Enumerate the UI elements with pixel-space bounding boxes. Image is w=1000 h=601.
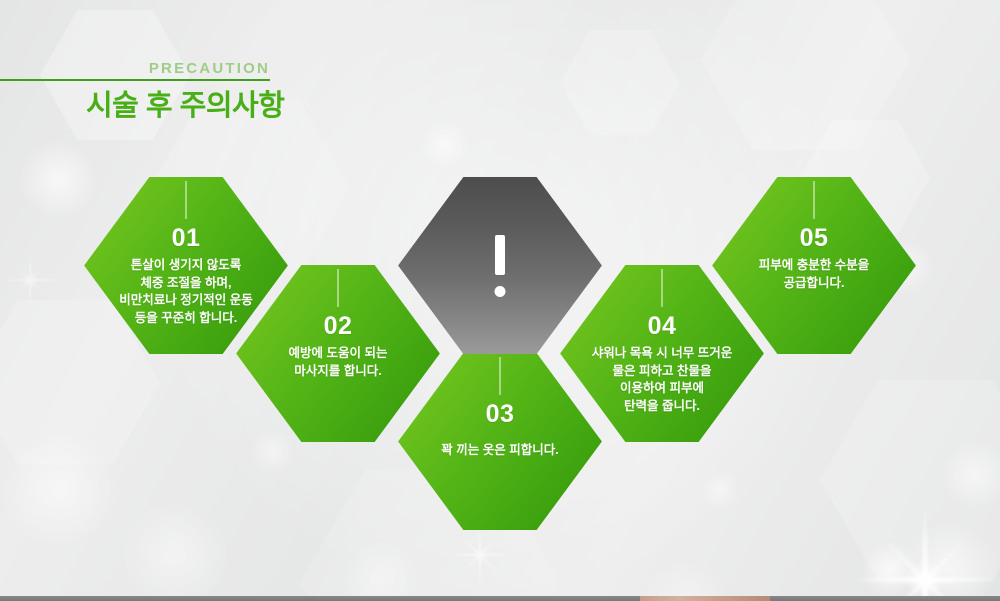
exclamation-mark-icon — [494, 235, 506, 297]
precaution-infographic: PRECAUTION 시술 후 주의사항 01 튼살이 생기지 않도록 체중 조… — [0, 0, 1000, 601]
step-number: 05 — [712, 224, 916, 253]
step-text: 꽉 끼는 옷은 피합니다. — [398, 442, 602, 460]
header-eyebrow: PRECAUTION — [0, 60, 271, 77]
step-number: 01 — [84, 224, 288, 253]
step-number: 02 — [236, 312, 440, 341]
background-bokeh — [860, 540, 920, 600]
background-bokeh — [340, 540, 420, 601]
step-text: 튼살이 생기지 않도록 체중 조절을 하며, 비만치료나 정기적인 운동 등을 … — [84, 257, 288, 327]
step-content: 03 꽉 끼는 옷은 피합니다. — [398, 353, 602, 530]
background-bokeh — [940, 440, 1000, 510]
background-sparkle — [850, 505, 1000, 601]
step-number: 03 — [398, 400, 602, 429]
background-hex-haze — [820, 380, 1000, 580]
background-bokeh — [18, 140, 98, 220]
connector-tick — [186, 181, 187, 219]
step-text: 샤워나 목욕 시 너무 뜨거운 물은 피하고 찬물을 이용하여 피부에 탄력을 … — [560, 345, 764, 415]
connector-tick — [500, 357, 501, 395]
exclamation-bar — [495, 235, 505, 275]
step-number: 04 — [560, 312, 764, 341]
connector-tick — [338, 269, 339, 307]
background-bokeh — [120, 500, 230, 601]
background-bokeh — [0, 430, 120, 550]
background-bokeh — [420, 120, 470, 170]
bottom-strip-swatch — [640, 596, 770, 601]
connector-tick — [814, 181, 815, 219]
page-header: PRECAUTION 시술 후 주의사항 — [0, 58, 1000, 120]
background-bokeh — [640, 560, 730, 601]
exclamation-dot — [495, 286, 506, 297]
page-title: 시술 후 주의사항 — [86, 82, 284, 124]
background-bokeh — [900, 520, 1000, 601]
step-text: 피부에 충분한 수분을 공급합니다. — [712, 257, 916, 292]
background-sparkle — [0, 250, 60, 310]
alert-content — [398, 177, 602, 354]
connector-tick — [662, 269, 663, 307]
step-text: 예방에 도움이 되는 마사지를 합니다. — [236, 345, 440, 380]
step-hexagon-03[interactable]: 03 꽉 끼는 옷은 피합니다. — [398, 353, 602, 530]
background-sparkle — [445, 520, 515, 590]
background-bokeh — [700, 470, 740, 510]
header-rule — [0, 79, 270, 81]
bottom-strip — [0, 596, 1000, 601]
background-bokeh — [250, 430, 295, 475]
center-alert-hexagon — [398, 177, 602, 354]
